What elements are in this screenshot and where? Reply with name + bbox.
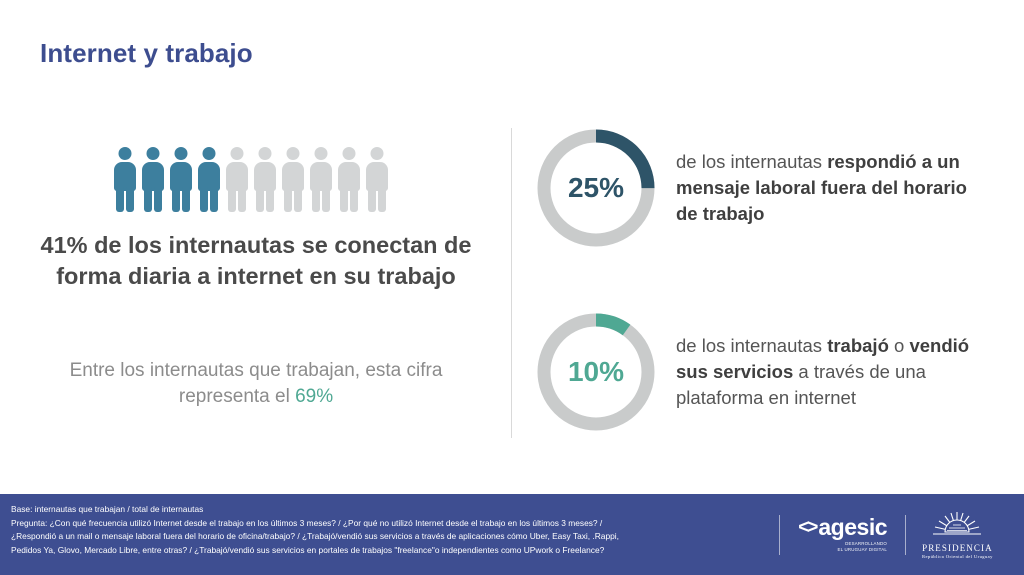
person-icon-filled: [141, 147, 165, 212]
person-icon-empty: [309, 147, 333, 212]
agesic-logo-name: agesic: [818, 516, 887, 539]
left-panel: 41% de los internautas se conectan de fo…: [0, 120, 512, 450]
left-subline-text: Entre los internautas que trabajan, esta…: [70, 360, 443, 407]
slide-root: Internet y trabajo 41% de los internauta…: [0, 0, 1024, 575]
presidencia-logo: PRESIDENCIA República Oriental del Urugu…: [906, 510, 1009, 559]
person-icon-filled: [197, 147, 221, 212]
donut-chart-25: 25%: [532, 124, 660, 252]
person-icon-empty: [337, 147, 361, 212]
agesic-tagline-line2: EL URUGUAY DIGITAL: [837, 547, 887, 553]
footer-note-line-4: Pedidos Ya, Glovo, Mercado Libre, entre …: [11, 544, 751, 558]
footer-note-line-2: Pregunta: ¿Con qué frecuencia utilizó In…: [11, 517, 751, 531]
stat2-text-bold-1: trabajó: [827, 335, 889, 356]
left-subline: Entre los internautas que trabajan, esta…: [40, 358, 472, 410]
person-icon-filled: [113, 147, 137, 212]
footer-note-line-3: ¿Respondió a un mail o mensaje laboral f…: [11, 530, 751, 544]
presidencia-name: PRESIDENCIA: [922, 543, 993, 553]
code-brackets-icon: <>: [798, 518, 816, 537]
stat-text-trabajo: de los internautas trabajó o vendió sus …: [676, 333, 986, 412]
person-icon-filled: [169, 147, 193, 212]
presidencia-subtitle: República Oriental del Uruguay: [922, 554, 993, 559]
stat-row-trabajo: 10% de los internautas trabajó o vendió …: [532, 308, 986, 436]
stat-text-respondio: de los internautas respondió a un mensaj…: [676, 149, 986, 228]
donut-chart-10: 10%: [532, 308, 660, 436]
page-title: Internet y trabajo: [40, 38, 253, 69]
footer-logos: <>agesic DESARROLLANDO EL URUGUAY DIGITA…: [764, 494, 1024, 575]
left-subline-highlight: 69%: [295, 386, 333, 407]
left-headline: 41% de los internautas se conectan de fo…: [20, 230, 492, 292]
stat2-text-plain-2: o: [889, 335, 910, 356]
stat-text-plain-1: de los internautas: [676, 151, 827, 172]
person-icon-empty: [253, 147, 277, 212]
footer-note-line-1: Base: internautas que trabajan / total d…: [11, 503, 751, 517]
stat2-text-plain-1: de los internautas: [676, 335, 827, 356]
agesic-tagline: DESARROLLANDO EL URUGUAY DIGITAL: [837, 541, 887, 553]
stat-row-respondio: 25% de los internautas respondió a un me…: [532, 124, 986, 252]
donut-value-10: 10%: [532, 308, 660, 436]
sun-icon: [931, 510, 983, 541]
donut-value-25: 25%: [532, 124, 660, 252]
footer-bar: Base: internautas que trabajan / total d…: [0, 494, 1024, 575]
person-icon-empty: [365, 147, 389, 212]
footer-notes: Base: internautas que trabajan / total d…: [11, 503, 751, 558]
person-icon-empty: [281, 147, 305, 212]
person-icon-empty: [225, 147, 249, 212]
vertical-divider: [511, 128, 512, 438]
pictogram-people-chart: [113, 147, 389, 212]
agesic-logo: <>agesic DESARROLLANDO EL URUGUAY DIGITA…: [780, 516, 905, 553]
